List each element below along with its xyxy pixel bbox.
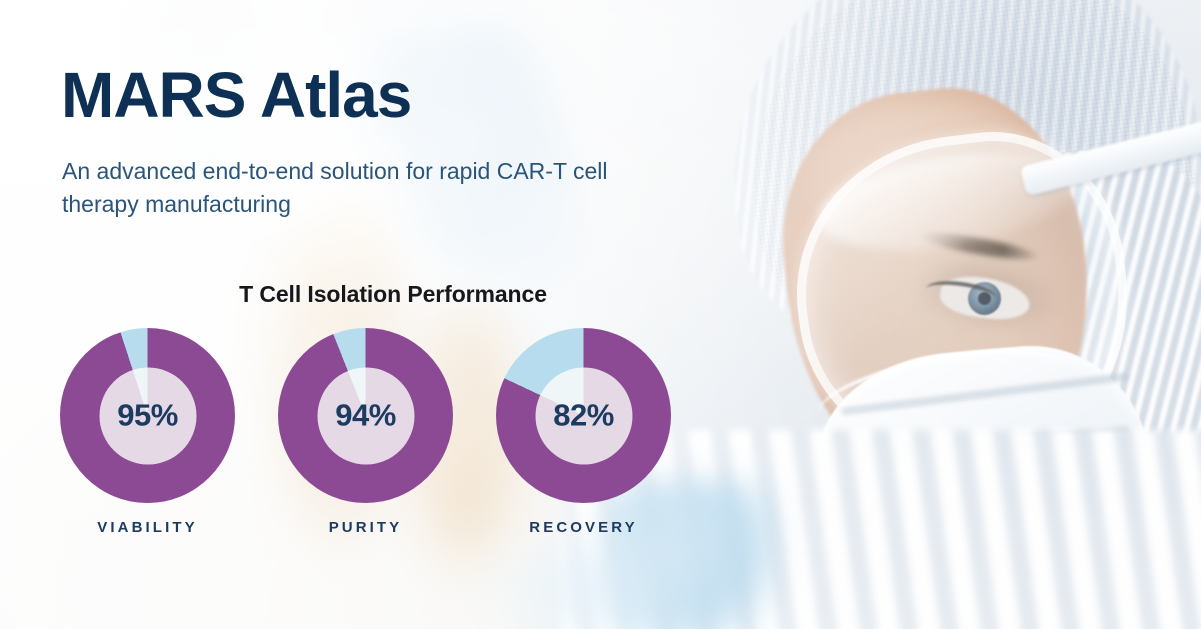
donut-value: 94% xyxy=(335,398,396,434)
donut-value: 95% xyxy=(117,398,178,434)
donut-chart: 82% xyxy=(496,328,671,503)
donut-center: 82% xyxy=(535,367,632,464)
donut-chart-group: 95% VIABILITY 94% PURITY 82% xyxy=(60,328,671,536)
donut-metric-purity: 94% PURITY xyxy=(278,328,453,536)
donut-metric-recovery: 82% RECOVERY xyxy=(496,328,671,536)
marketing-banner: MARS Atlas An advanced end-to-end soluti… xyxy=(0,0,1201,629)
donut-label: VIABILITY xyxy=(97,519,197,536)
banner-content: MARS Atlas An advanced end-to-end soluti… xyxy=(0,0,1201,629)
page-subtitle: An advanced end-to-end solution for rapi… xyxy=(62,155,622,220)
donut-metric-viability: 95% VIABILITY xyxy=(60,328,235,536)
donut-chart: 94% xyxy=(278,328,453,503)
donut-label: PURITY xyxy=(329,519,403,536)
donut-chart: 95% xyxy=(60,328,235,503)
donut-center: 95% xyxy=(99,367,196,464)
donut-label: RECOVERY xyxy=(529,519,637,536)
chart-title: T Cell Isolation Performance xyxy=(0,281,786,308)
donut-center: 94% xyxy=(317,367,414,464)
page-title: MARS Atlas xyxy=(61,62,411,129)
donut-value: 82% xyxy=(553,398,614,434)
